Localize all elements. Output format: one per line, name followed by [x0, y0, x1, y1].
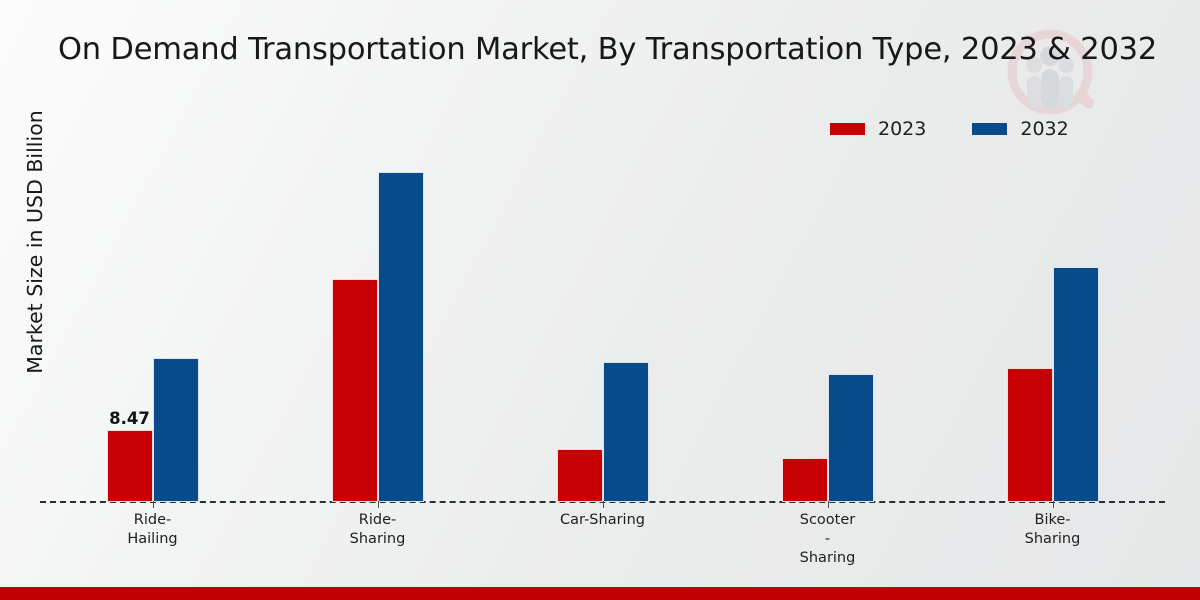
- bar-group: Ride- Sharing: [265, 160, 490, 502]
- bar-group: Car-Sharing: [490, 160, 715, 502]
- chart-legend: 2023 2032: [830, 118, 1069, 140]
- bar-wrapper: [557, 449, 603, 502]
- x-axis-label: Scooter - Sharing: [800, 511, 856, 568]
- bar-group: 8.47Ride- Hailing: [40, 160, 265, 502]
- x-axis-label: Ride- Sharing: [350, 511, 406, 549]
- bar-wrapper: [153, 358, 199, 502]
- x-axis-tick: [153, 501, 154, 508]
- x-axis-label: Car-Sharing: [560, 511, 645, 530]
- legend-item-2032[interactable]: 2032: [972, 118, 1068, 140]
- bar-pair: [332, 160, 424, 502]
- x-axis-label: Bike- Sharing: [1025, 511, 1081, 549]
- bar-2023-1[interactable]: [107, 430, 153, 502]
- bar-wrapper: 8.47: [107, 430, 153, 502]
- x-axis-tick: [603, 501, 604, 508]
- bar-2032-5[interactable]: [1053, 267, 1099, 502]
- bar-wrapper: [782, 458, 828, 502]
- bar-2032-2[interactable]: [378, 172, 424, 502]
- bar-wrapper: [378, 172, 424, 502]
- bar-group: Scooter - Sharing: [715, 160, 940, 502]
- bar-2023-4[interactable]: [782, 458, 828, 502]
- bar-wrapper: [1053, 267, 1099, 502]
- bar-2023-2[interactable]: [332, 279, 378, 502]
- bar-wrapper: [603, 362, 649, 502]
- bar-groups: 8.47Ride- HailingRide- SharingCar-Sharin…: [40, 160, 1165, 502]
- bar-wrapper: [828, 374, 874, 502]
- bar-pair: [1007, 160, 1099, 502]
- x-axis-tick: [1053, 501, 1054, 508]
- x-axis-tick: [828, 501, 829, 508]
- bar-group: Bike- Sharing: [940, 160, 1165, 502]
- bar-pair: [557, 160, 649, 502]
- x-axis-label: Ride- Hailing: [127, 511, 177, 549]
- bar-pair: 8.47: [107, 160, 199, 502]
- legend-item-2023[interactable]: 2023: [830, 118, 926, 140]
- legend-swatch-2032: [972, 123, 1007, 135]
- chart-title: On Demand Transportation Market, By Tran…: [58, 32, 1168, 67]
- legend-swatch-2023: [830, 123, 865, 135]
- chart-canvas: On Demand Transportation Market, By Tran…: [0, 0, 1200, 600]
- bar-wrapper: [1007, 368, 1053, 502]
- bar-2032-4[interactable]: [828, 374, 874, 502]
- bar-2032-3[interactable]: [603, 362, 649, 502]
- bar-2023-3[interactable]: [557, 449, 603, 502]
- bottom-accent-band: [0, 587, 1200, 600]
- plot-area: 8.47Ride- HailingRide- SharingCar-Sharin…: [40, 160, 1165, 502]
- bar-2023-5[interactable]: [1007, 368, 1053, 502]
- bar-pair: [782, 160, 874, 502]
- x-axis-tick: [378, 501, 379, 508]
- bar-value-label: 8.47: [109, 409, 150, 428]
- bar-wrapper: [332, 279, 378, 502]
- legend-label-2032: 2032: [1020, 118, 1068, 140]
- legend-label-2023: 2023: [878, 118, 926, 140]
- bar-2032-1[interactable]: [153, 358, 199, 502]
